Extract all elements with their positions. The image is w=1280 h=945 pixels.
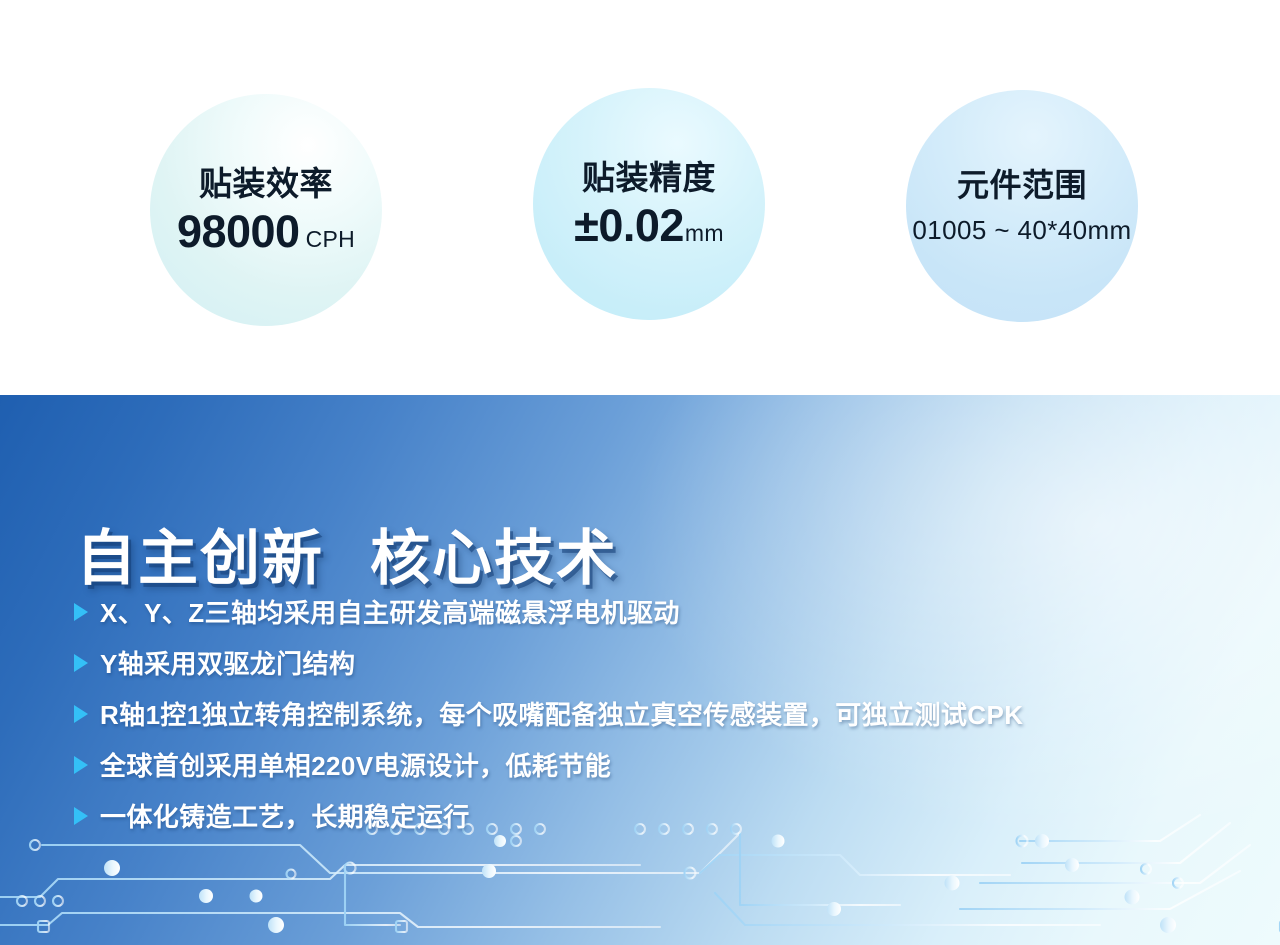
spec-unit: CPH — [306, 226, 355, 253]
list-item: R轴1控1独立转角控制系统，每个吸嘴配备独立真空传感装置，可独立测试CPK — [74, 688, 1023, 739]
spec-value: 98000 — [177, 208, 300, 255]
list-item: 全球首创采用单相220V电源设计，低耗节能 — [74, 739, 1023, 790]
list-item: X、Y、Z三轴均采用自主研发高端磁悬浮电机驱动 — [74, 586, 1023, 637]
spec-bubble-placement-accuracy: 贴装精度 ±0.02 mm — [533, 88, 765, 320]
spec-value-group: ±0.02 mm — [574, 202, 724, 249]
triangle-bullet-icon — [74, 705, 88, 723]
spec-value-group: 98000 CPH — [177, 208, 355, 255]
triangle-bullet-icon — [74, 603, 88, 621]
list-item-label: Y轴采用双驱龙门结构 — [100, 644, 355, 681]
spec-bubble-placement-efficiency: 贴装效率 98000 CPH — [150, 94, 382, 326]
list-item-label: X、Y、Z三轴均采用自主研发高端磁悬浮电机驱动 — [100, 593, 680, 630]
list-item: Y轴采用双驱龙门结构 — [74, 637, 1023, 688]
triangle-bullet-icon — [74, 756, 88, 774]
list-item-label: 全球首创采用单相220V电源设计，低耗节能 — [100, 746, 611, 783]
spec-unit: mm — [685, 220, 724, 247]
spec-title: 贴装精度 — [582, 159, 716, 197]
page-title: 自主创新核心技术 — [76, 510, 618, 597]
headline-part2: 核心技术 — [370, 525, 618, 592]
spec-value: 01005 ~ 40*40mm — [912, 216, 1131, 245]
headline-part1: 自主创新 — [76, 525, 324, 592]
spec-bubble-component-range: 元件范围 01005 ~ 40*40mm — [906, 90, 1138, 322]
list-item: 一体化铸造工艺，长期稳定运行 — [74, 790, 1023, 841]
spec-strip: 贴装效率 98000 CPH 贴装精度 ±0.02 mm 元件范围 01005 … — [0, 0, 1280, 395]
triangle-bullet-icon — [74, 807, 88, 825]
feature-bullet-list: X、Y、Z三轴均采用自主研发高端磁悬浮电机驱动 Y轴采用双驱龙门结构 R轴1控1… — [74, 586, 1023, 841]
spec-title: 元件范围 — [957, 167, 1087, 204]
list-item-label: 一体化铸造工艺，长期稳定运行 — [100, 797, 470, 834]
banner-page: 贴装效率 98000 CPH 贴装精度 ±0.02 mm 元件范围 01005 … — [0, 0, 1280, 945]
triangle-bullet-icon — [74, 654, 88, 672]
spec-value: ±0.02 — [574, 202, 684, 249]
spec-title: 贴装效率 — [199, 165, 333, 203]
list-item-label: R轴1控1独立转角控制系统，每个吸嘴配备独立真空传感装置，可独立测试CPK — [100, 695, 1023, 732]
